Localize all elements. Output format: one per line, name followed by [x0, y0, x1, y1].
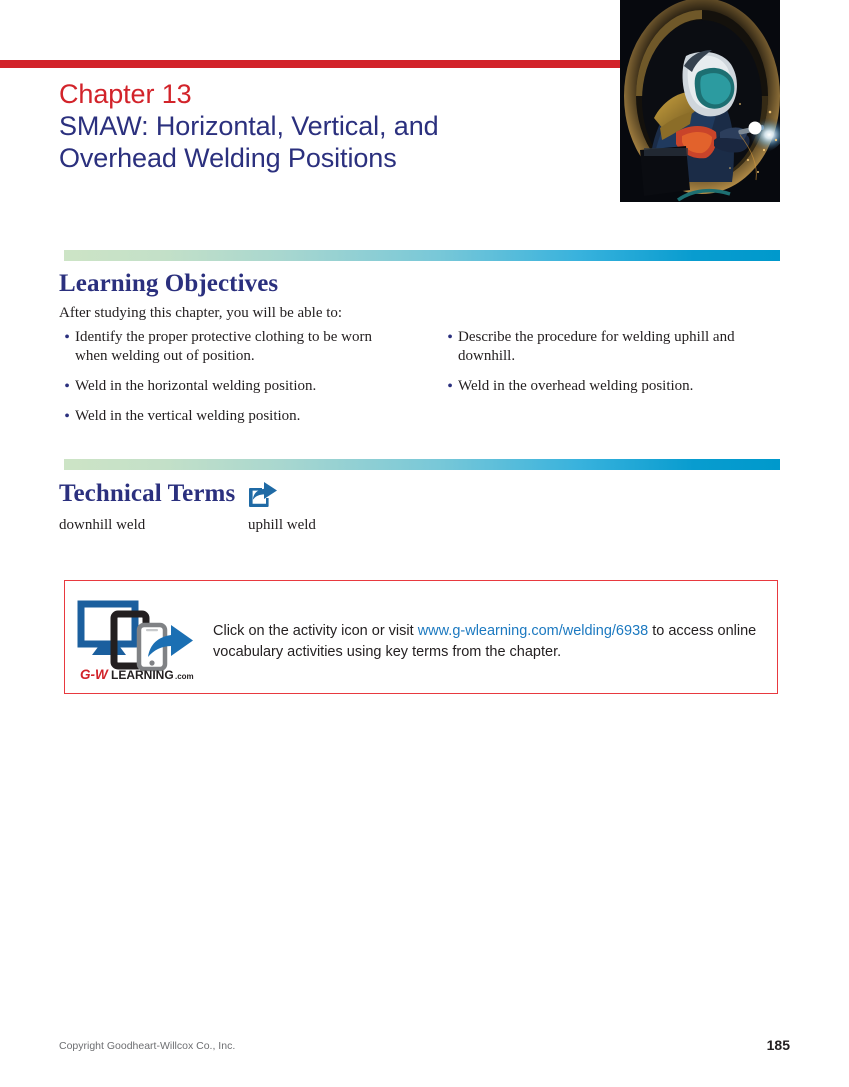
gw-learning-logo[interactable]: G-W LEARNING .com: [76, 600, 203, 681]
footer-page-number: 185: [767, 1037, 790, 1053]
objectives-column-1: • Identify the proper protective clothin…: [59, 328, 396, 437]
objective-list-item: • Weld in the horizontal welding positio…: [59, 377, 396, 396]
activity-url-link[interactable]: www.g-wlearning.com/welding/6938: [418, 623, 649, 639]
technical-terms-divider-bar: [64, 459, 780, 470]
top-red-rule: [0, 60, 621, 68]
objectives-divider-bar: [64, 250, 780, 261]
footer-copyright: Copyright Goodheart-Willcox Co., Inc.: [59, 1040, 235, 1052]
objectives-columns: • Identify the proper protective clothin…: [59, 328, 780, 437]
chapter-heading-block: Chapter 13 SMAW: Horizontal, Vertical, a…: [59, 78, 604, 174]
objectives-intro-text: After studying this chapter, you will be…: [59, 303, 342, 323]
technical-terms-heading-row: Technical Terms: [59, 480, 278, 508]
objective-list-item: • Identify the proper protective clothin…: [59, 328, 396, 366]
technical-term: downhill weld: [59, 515, 248, 535]
bullet-icon: •: [442, 377, 458, 396]
objective-text: Describe the procedure for welding uphil…: [458, 328, 779, 366]
bullet-icon: •: [59, 377, 75, 396]
svg-text:G-W: G-W: [80, 667, 109, 681]
activity-text-before-link: Click on the activity icon or visit: [213, 623, 418, 639]
chapter-number: Chapter 13: [59, 78, 604, 110]
technical-term: uphill weld: [248, 515, 437, 535]
technical-terms-heading: Technical Terms: [59, 480, 235, 508]
objective-list-item: • Weld in the vertical welding position.: [59, 407, 396, 426]
activity-instruction-text: Click on the activity icon or visit www.…: [213, 621, 758, 663]
objectives-column-2: • Describe the procedure for welding uph…: [442, 328, 779, 437]
objective-list-item: • Weld in the overhead welding position.: [442, 377, 779, 396]
online-activity-box: G-W LEARNING .com Click on the activity …: [64, 580, 778, 694]
chapter-hero-photo: [620, 0, 780, 202]
objective-text: Identify the proper protective clothing …: [75, 328, 396, 366]
bullet-icon: •: [59, 407, 75, 426]
objective-text: Weld in the vertical welding position.: [75, 407, 396, 426]
objective-list-item: • Describe the procedure for welding uph…: [442, 328, 779, 366]
objective-text: Weld in the horizontal welding position.: [75, 377, 396, 396]
objectives-heading: Learning Objectives: [59, 270, 278, 298]
chapter-title-line-2: Overhead Welding Positions: [59, 142, 604, 174]
share-external-link-icon[interactable]: [248, 481, 278, 508]
objective-text: Weld in the overhead welding position.: [458, 377, 779, 396]
bullet-icon: •: [442, 328, 458, 366]
technical-terms-list: downhill weld uphill weld: [59, 515, 780, 535]
chapter-title-line-1: SMAW: Horizontal, Vertical, and: [59, 110, 604, 142]
svg-text:LEARNING: LEARNING: [111, 668, 174, 681]
svg-text:.com: .com: [175, 672, 194, 681]
bullet-icon: •: [59, 328, 75, 366]
